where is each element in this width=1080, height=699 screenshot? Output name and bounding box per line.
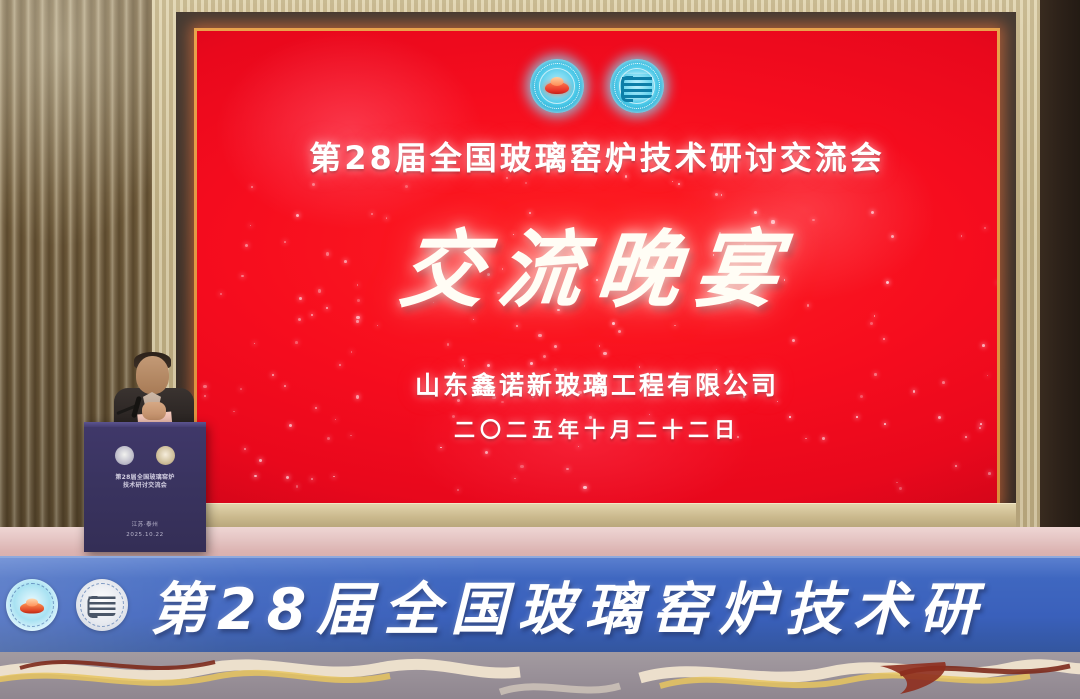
podium-location: 江苏·泰州 — [84, 520, 206, 528]
speaker-podium: 第28届全国玻璃窑炉 技术研讨交流会 江苏·泰州 2025.10.22 — [84, 422, 206, 552]
podium-date: 2025.10.22 — [84, 532, 206, 538]
stage-front-banner: 第28届全国玻璃窑炉技术研 — [0, 556, 1080, 652]
podium-emblem-left-icon — [115, 446, 134, 465]
banner-emblem-left-icon — [6, 579, 58, 631]
podium-title-line-1: 第28届全国玻璃窑炉 — [84, 474, 206, 482]
banner-emblem-right-icon — [76, 579, 128, 631]
podium-emblem-right-icon — [156, 446, 175, 465]
led-screen: 第28届全国玻璃窑炉技术研讨交流会 交流晚宴 山东鑫诺新玻璃工程有限公司 二〇二… — [197, 31, 997, 503]
screen-logo-row — [530, 59, 664, 113]
podium-title-line-2: 技术研讨交流会 — [84, 482, 206, 490]
carpet-pattern — [0, 652, 1080, 699]
podium-area: 第28届全国玻璃窑炉 技术研讨交流会 江苏·泰州 2025.10.22 — [84, 352, 214, 552]
screen-hero-title: 交流晚宴 — [395, 203, 800, 324]
banner-title-text: 第28届全国玻璃窑炉技术研 — [150, 564, 986, 646]
floor-carpet — [0, 652, 1080, 699]
banner-logo-row — [6, 579, 128, 631]
screen-base-ledge — [176, 503, 1016, 527]
screen-organization-name: 山东鑫诺新玻璃工程有限公司 — [415, 366, 779, 402]
podium-title: 第28届全国玻璃窑炉 技术研讨交流会 — [84, 474, 206, 490]
screen-event-date: 二〇二五年十月二十二日 — [454, 414, 740, 444]
stage-wall-right — [1038, 0, 1080, 560]
screen-content: 第28届全国玻璃窑炉技术研讨交流会 交流晚宴 山东鑫诺新玻璃工程有限公司 二〇二… — [197, 31, 997, 503]
china-glass-association-emblem-icon — [530, 59, 584, 113]
glass-furnace-committee-emblem-icon — [610, 59, 664, 113]
podium-logo-row — [84, 446, 206, 465]
stage-photo-scene: 第28届全国玻璃窑炉技术研讨交流会 交流晚宴 山东鑫诺新玻璃工程有限公司 二〇二… — [0, 0, 1080, 699]
screen-main-title: 第28届全国玻璃窑炉技术研讨交流会 — [309, 133, 885, 179]
